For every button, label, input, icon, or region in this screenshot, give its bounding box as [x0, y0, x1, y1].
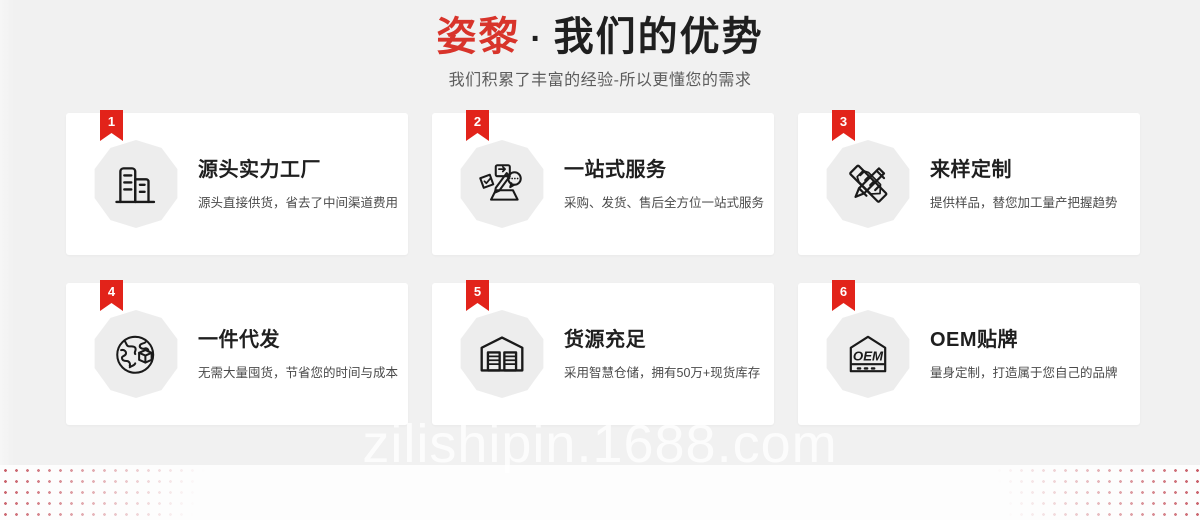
- brand-name: 姿黎: [436, 15, 520, 59]
- page-subtitle: 我们积累了丰富的经验-所以更懂您的需求: [0, 66, 1200, 90]
- bottom-band: [0, 465, 1200, 520]
- card-description: 采购、发货、售后全方位一站式服务: [564, 194, 764, 212]
- factory-building-icon: [92, 140, 180, 228]
- title-separator: ·: [530, 20, 543, 58]
- advantage-card-2[interactable]: 2 一站式服务: [432, 113, 774, 255]
- card-description: 无需大量囤货，节省您的时间与成本: [198, 364, 398, 382]
- advantage-card-6[interactable]: 6 OEM OEM贴牌 量身定制，打造属于您自己的品牌: [798, 283, 1140, 425]
- card-title: 源头实力工厂: [198, 157, 398, 183]
- advantage-card-3[interactable]: 3: [798, 113, 1140, 255]
- card-title: 货源充足: [564, 327, 760, 353]
- card-description: 采用智慧仓储，拥有50万+现货库存: [564, 364, 760, 382]
- one-stop-service-icon: [458, 140, 546, 228]
- card-description: 源头直接供货，省去了中间渠道费用: [198, 194, 398, 212]
- card-title: 一站式服务: [564, 157, 764, 183]
- globe-parcel-icon: [92, 310, 180, 398]
- dot-pattern-left: [0, 465, 250, 520]
- advantages-grid: 1 源头实力工厂 源头直接供货，省去了中间渠道费用: [66, 113, 1134, 425]
- card-description: 提供样品，替您加工量产把握趋势: [930, 194, 1118, 212]
- dot-pattern-right: [950, 465, 1200, 520]
- card-title: OEM贴牌: [930, 327, 1118, 353]
- svg-text:OEM: OEM: [853, 348, 884, 363]
- ruler-pencil-icon: [824, 140, 912, 228]
- card-description: 量身定制，打造属于您自己的品牌: [930, 364, 1118, 382]
- page-title: 姿黎·我们的优势: [0, 11, 1200, 65]
- oem-label-icon: OEM: [824, 310, 912, 398]
- page-title-rest: 我们的优势: [554, 15, 764, 59]
- advantage-card-1[interactable]: 1 源头实力工厂 源头直接供货，省去了中间渠道费用: [66, 113, 408, 255]
- card-title: 来样定制: [930, 157, 1118, 183]
- warehouse-icon: [458, 310, 546, 398]
- section-header: 姿黎·我们的优势 我们积累了丰富的经验-所以更懂您的需求: [0, 0, 1200, 100]
- advantage-card-4[interactable]: 4 一件代发 无需大量囤货，节省您的时间与成本: [66, 283, 408, 425]
- card-title: 一件代发: [198, 327, 398, 353]
- advantage-card-5[interactable]: 5 货源充足 采用智慧仓储，拥有50万+现货库存: [432, 283, 774, 425]
